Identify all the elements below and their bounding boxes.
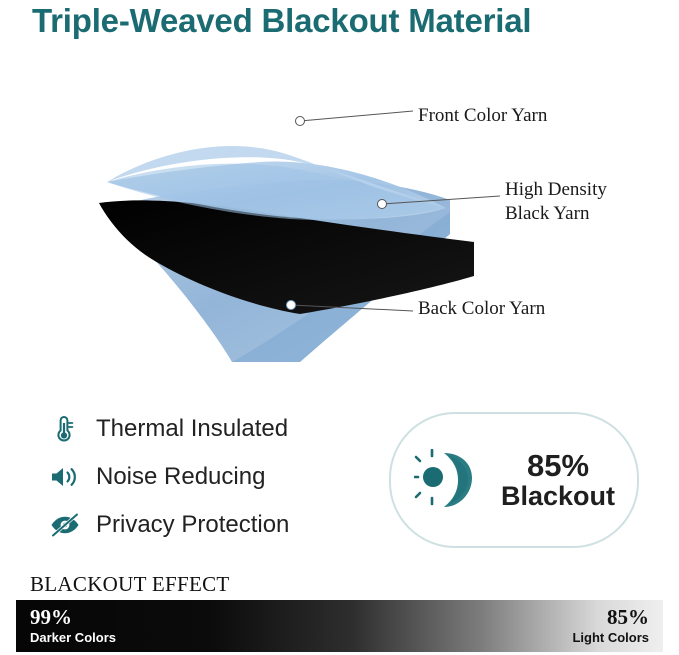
thermometer-icon — [48, 412, 82, 446]
callout-back-color-yarn: Back Color Yarn — [418, 297, 545, 321]
callout-high-density-line2: Black Yarn — [505, 203, 589, 224]
feature-row-thermal: Thermal Insulated — [48, 405, 368, 453]
speaker-mute-icon — [48, 460, 82, 494]
effect-left-label: Darker Colors — [30, 630, 116, 646]
effect-left-percent: 99% — [30, 604, 116, 630]
blackout-word: Blackout — [485, 482, 631, 510]
blackout-badge-text: 85% Blackout — [485, 450, 631, 511]
features-list: Thermal Insulated Noise Reducing Privacy… — [48, 405, 368, 549]
blackout-percent: 85% — [485, 450, 631, 483]
blackout-badge: 85% Blackout — [389, 412, 639, 548]
feature-label-privacy: Privacy Protection — [96, 511, 289, 539]
eye-slash-icon — [48, 508, 82, 542]
callout-front-color-yarn: Front Color Yarn — [418, 104, 547, 128]
feature-label-noise: Noise Reducing — [96, 463, 265, 491]
feature-row-noise: Noise Reducing — [48, 453, 368, 501]
blackout-effect-bar: 99% Darker Colors 85% Light Colors — [16, 600, 663, 652]
feature-row-privacy: Privacy Protection — [48, 501, 368, 549]
fabric-layers-diagram: Front Color Yarn High Density Black Yarn… — [0, 62, 679, 362]
blackout-effect-title: BLACKOUT EFFECT — [30, 572, 230, 597]
callout-high-density-line1: High Density — [505, 179, 607, 200]
effect-right-group: 85% Light Colors — [572, 604, 649, 646]
effect-right-label: Light Colors — [572, 630, 649, 646]
page-title: Triple-Weaved Blackout Material — [32, 2, 652, 40]
callout-high-density-black-yarn: High Density Black Yarn — [505, 178, 607, 226]
effect-right-percent: 85% — [572, 604, 649, 630]
feature-label-thermal: Thermal Insulated — [96, 415, 288, 443]
effect-left-group: 99% Darker Colors — [30, 604, 116, 646]
sun-behind-curtain-icon — [413, 444, 485, 516]
